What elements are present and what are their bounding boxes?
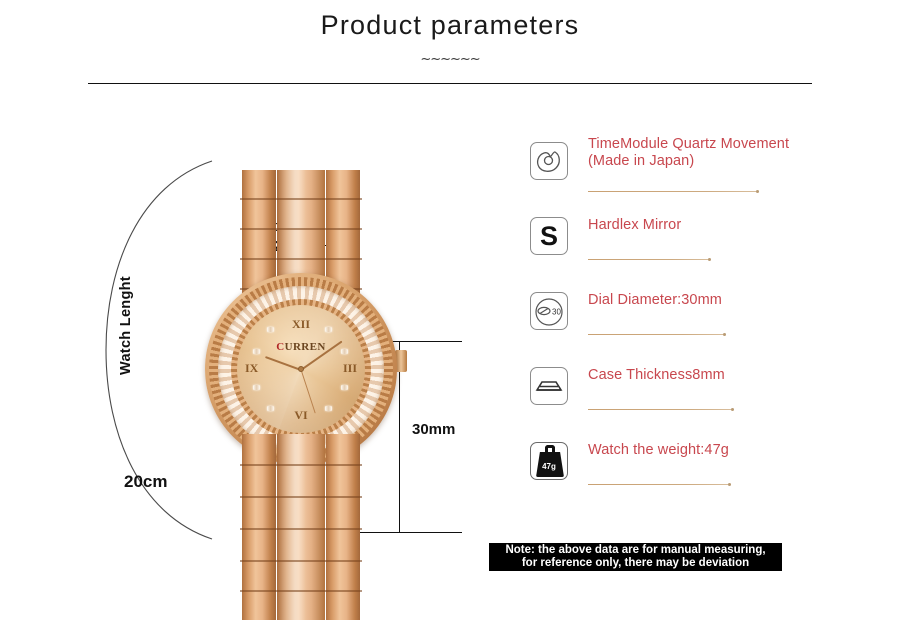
dial-crystal-marker bbox=[267, 327, 274, 332]
feature-list: TimeModule Quartz Movement (Made in Japa… bbox=[530, 138, 890, 513]
dial-crystal-marker bbox=[267, 406, 274, 411]
feature-underline bbox=[588, 191, 756, 192]
feature-line-2: (Made in Japan) bbox=[588, 153, 888, 170]
watch-image: XII III VI IX CURREN bbox=[240, 170, 362, 620]
feature-row-mirror: S Hardlex Mirror bbox=[530, 213, 890, 288]
note-banner: Note: the above data are for manual meas… bbox=[489, 543, 782, 571]
dial-crystal-marker bbox=[325, 327, 332, 332]
feature-text-movement: TimeModule Quartz Movement (Made in Japa… bbox=[588, 136, 888, 170]
hands-pivot bbox=[298, 366, 304, 372]
case-thickness-icon bbox=[530, 367, 568, 405]
case-diameter-extension-bottom bbox=[352, 532, 462, 533]
feature-row-dial-diameter: 30 Dial Diameter:30mm bbox=[530, 288, 890, 363]
band-link-separator bbox=[240, 590, 362, 592]
hardlex-s-icon: S bbox=[530, 217, 568, 255]
band-link-separator bbox=[240, 258, 362, 260]
numeral-nine: IX bbox=[245, 361, 258, 376]
band-link-column-right bbox=[326, 434, 360, 620]
note-line-1: Note: the above data are for manual meas… bbox=[505, 544, 765, 557]
watch-dial: XII III VI IX CURREN bbox=[237, 305, 365, 433]
dial-brand-text: CURREN bbox=[237, 341, 365, 353]
band-link-separator bbox=[240, 228, 362, 230]
watch-length-label: Watch Lenght bbox=[118, 276, 134, 375]
feature-line-1: TimeModule Quartz Movement bbox=[588, 136, 888, 153]
case-diameter-value: 30mm bbox=[412, 421, 455, 438]
feature-underline bbox=[588, 259, 708, 260]
header-divider bbox=[88, 83, 812, 84]
watch-band-bottom bbox=[240, 434, 362, 620]
dial-crystal-marker bbox=[341, 385, 348, 390]
feature-underline bbox=[588, 484, 728, 485]
quartz-movement-icon bbox=[530, 142, 568, 180]
svg-text:30: 30 bbox=[552, 308, 561, 317]
numeral-twelve: XII bbox=[237, 317, 365, 332]
numeral-three: III bbox=[343, 361, 357, 376]
numeral-six: VI bbox=[237, 408, 365, 423]
feature-underline bbox=[588, 334, 723, 335]
band-gloss bbox=[277, 434, 325, 620]
feature-row-movement: TimeModule Quartz Movement (Made in Japa… bbox=[530, 138, 890, 213]
band-link-separator bbox=[240, 198, 362, 200]
dial-diameter-icon: 30 bbox=[530, 292, 568, 330]
band-link-separator bbox=[240, 528, 362, 530]
feature-underline bbox=[588, 409, 731, 410]
brand-remainder: URREN bbox=[285, 341, 326, 353]
band-link-column-left bbox=[242, 434, 276, 620]
band-link-separator bbox=[240, 496, 362, 498]
note-line-2: for reference only, there may be deviati… bbox=[522, 557, 749, 570]
dial-crystal-marker bbox=[325, 406, 332, 411]
feature-row-case-thickness: Case Thickness8mm bbox=[530, 363, 890, 438]
feature-text-dial-diameter: Dial Diameter:30mm bbox=[588, 292, 888, 309]
wave-decoration: ~~~~~~ bbox=[0, 52, 900, 67]
product-parameters-infographic: Product parameters ~~~~~~ Watch Lenght 2… bbox=[0, 0, 900, 614]
band-link-separator bbox=[240, 560, 362, 562]
watch-length-value: 20cm bbox=[124, 472, 167, 492]
watch-weight-icon: 47g bbox=[530, 442, 568, 480]
dial-crystal-marker bbox=[253, 385, 260, 390]
brand-initial: C bbox=[276, 341, 284, 353]
weight-icon-value: 47g bbox=[531, 462, 567, 471]
feature-row-weight: 47g Watch the weight:47g bbox=[530, 438, 890, 513]
feature-text-mirror: Hardlex Mirror bbox=[588, 217, 888, 234]
band-link-separator bbox=[240, 464, 362, 466]
watch-diagram-pane: Watch Lenght 20cm Band width 12mm 30mm bbox=[0, 95, 500, 565]
page-title: Product parameters bbox=[0, 10, 900, 41]
feature-text-case-thickness: Case Thickness8mm bbox=[588, 367, 888, 384]
feature-text-weight: Watch the weight:47g bbox=[588, 442, 888, 459]
s-glyph: S bbox=[531, 218, 567, 254]
